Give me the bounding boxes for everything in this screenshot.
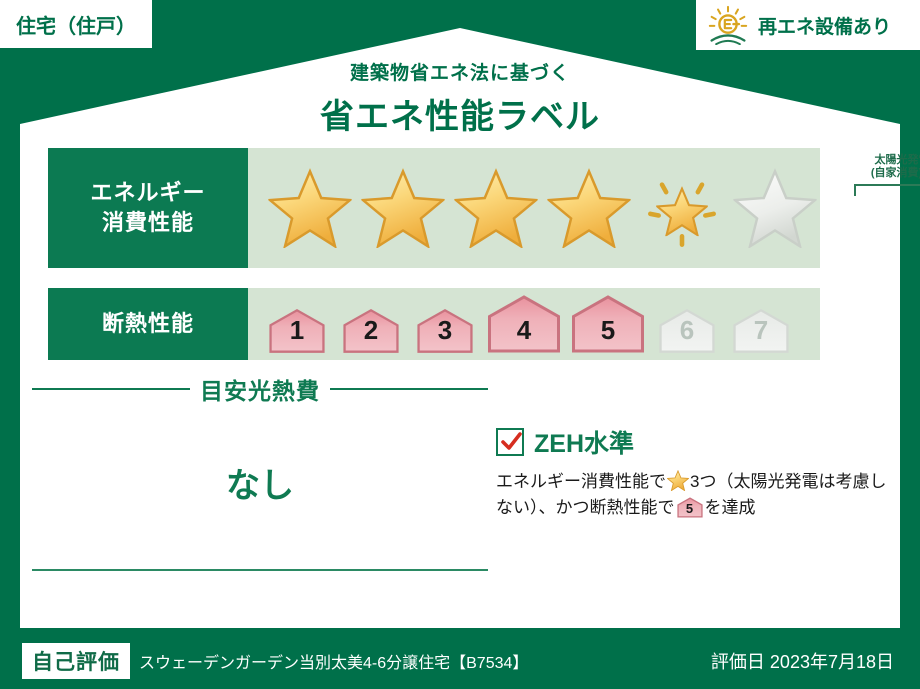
grade-house-4: 4 xyxy=(484,294,564,354)
renewable-energy-badge: 再エネ設備あり xyxy=(696,0,920,50)
title-block: 建築物省エネ法に基づく 省エネ性能ラベル xyxy=(0,58,920,138)
grade-house-7: 7 xyxy=(726,308,796,354)
grade-house-3: 3 xyxy=(410,308,480,354)
grade-scale: 1 2 3 4 5 xyxy=(256,288,820,360)
page-title: 省エネ性能ラベル xyxy=(0,89,920,138)
utility-cost-value: なし xyxy=(32,458,488,507)
star-solar-5 xyxy=(636,162,727,254)
energy-label-line2: 消費性能 xyxy=(90,208,205,238)
solar-bracket xyxy=(854,184,920,196)
solar-note-line2: (自家消費)分 xyxy=(852,167,920,180)
solar-annotation: 太陽光発電 (自家消費)分 xyxy=(852,154,920,179)
zeh-title: ZEH水準 xyxy=(534,424,634,460)
zeh-section: ZEH水準 エネルギー消費性能で 3つ（太陽光発電は考慮しない）、かつ断熱性能で… xyxy=(496,424,888,522)
star-filled-2 xyxy=(357,162,448,254)
subtitle: 建築物省エネ法に基づく xyxy=(0,58,920,85)
star-rating xyxy=(258,148,820,268)
zeh-desc-part1: エネルギー消費性能で xyxy=(496,472,666,491)
zeh-desc-part3: を達成 xyxy=(705,498,756,517)
building-type-badge: 住宅（住戸） xyxy=(0,0,152,48)
grade-house-5: 5 xyxy=(568,294,648,354)
utility-cost-heading: 目安光熱費 xyxy=(32,372,488,406)
utility-cost-section: 目安光熱費 なし xyxy=(32,372,488,571)
energy-performance-label: エネルギー 消費性能 xyxy=(48,148,248,268)
utility-cost-heading-text: 目安光熱費 xyxy=(200,372,320,406)
star-filled-4 xyxy=(543,162,634,254)
star-icon xyxy=(667,470,689,491)
energy-label-line1: エネルギー xyxy=(90,178,205,208)
house-grade-icon: 5 xyxy=(677,497,703,518)
zeh-description: エネルギー消費性能で 3つ（太陽光発電は考慮しない）、かつ断熱性能で 5 を達成 xyxy=(496,469,888,522)
star-filled-1 xyxy=(264,162,355,254)
house-grade-icon-num: 5 xyxy=(677,497,703,518)
star-empty-6 xyxy=(729,162,820,254)
grade-house-6: 6 xyxy=(652,308,722,354)
solar-sun-icon xyxy=(706,5,750,45)
evaluation-type-badge: 自己評価 xyxy=(22,643,130,679)
footer: 自己評価 スウェーデンガーデン当別太美4-6分譲住宅【B7534】 評価日 20… xyxy=(0,633,920,689)
energy-rating-area: 太陽光発電 (自家消費)分 xyxy=(248,148,820,268)
insulation-performance-label: 断熱性能 xyxy=(48,288,248,360)
star-filled-3 xyxy=(450,162,541,254)
check-icon xyxy=(496,428,524,456)
heading-rule-left xyxy=(32,388,190,390)
zeh-heading: ZEH水準 xyxy=(496,424,888,460)
utility-cost-bottom-rule xyxy=(32,569,488,571)
energy-label-card: 住宅（住戸） 再エネ設備あり xyxy=(0,0,920,689)
energy-performance-row: エネルギー 消費性能 太陽光発電 (自家消費)分 xyxy=(48,148,820,268)
building-type-label: 住宅（住戸） xyxy=(16,10,136,39)
insulation-rating-area: 1 2 3 4 5 xyxy=(248,288,820,360)
insulation-label-text: 断熱性能 xyxy=(102,309,194,339)
renewable-energy-label: 再エネ設備あり xyxy=(758,12,891,39)
grade-house-2: 2 xyxy=(336,308,406,354)
heading-rule-right xyxy=(330,388,488,390)
evaluation-date: 評価日 2023年7月18日 xyxy=(711,648,894,674)
solar-note-line1: 太陽光発電 xyxy=(852,154,920,167)
insulation-performance-row: 断熱性能 1 2 3 4 xyxy=(48,288,820,360)
grade-house-1: 1 xyxy=(262,308,332,354)
property-name: スウェーデンガーデン当別太美4-6分譲住宅【B7534】 xyxy=(139,649,528,673)
